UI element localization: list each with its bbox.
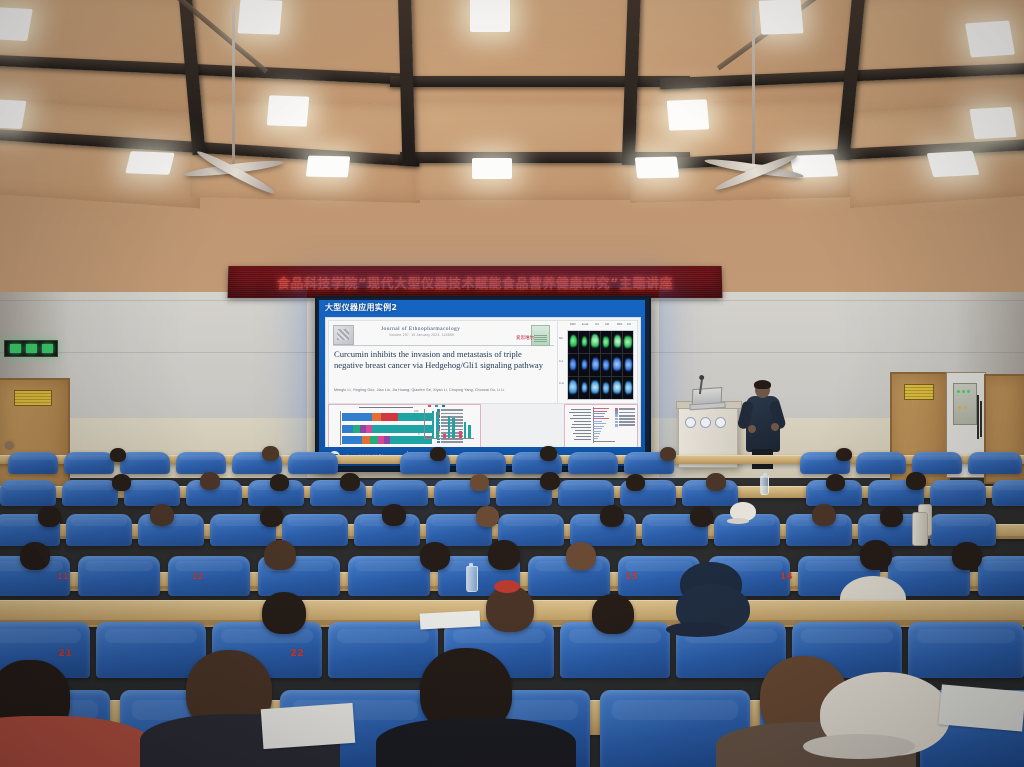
ceiling [0, 0, 1024, 300]
paper-title: Curcumin inhibits the invasion and metas… [334, 349, 552, 372]
electrical-panel [953, 383, 977, 425]
grouped-bar-chart: 100 50 0 [412, 405, 478, 445]
ceiling-light [267, 95, 310, 126]
seat-number: 14 [780, 572, 793, 582]
notebook [420, 610, 481, 629]
door-grille [904, 384, 934, 400]
white-cap [730, 502, 756, 521]
water-bottle [466, 566, 478, 592]
ceiling-light [759, 0, 804, 35]
seat-number: 21 [58, 648, 72, 659]
hair-accessory [494, 580, 520, 593]
paper-citation-card: Journal of Ethnopharmacology Volume 297,… [328, 320, 559, 404]
ceiling-fan [752, 8, 755, 166]
laptop [691, 387, 726, 409]
white-cap [820, 672, 950, 756]
ceiling-light [472, 158, 512, 179]
ceiling-fan [232, 6, 235, 166]
lectern-emblem [685, 417, 726, 428]
ceiling-light [125, 151, 174, 175]
door-grille [14, 390, 52, 406]
journal-logo-icon [333, 325, 354, 345]
paper-sheet [938, 684, 1024, 731]
water-bottle [760, 476, 769, 495]
seat-number: 12 [192, 572, 203, 581]
presentation-slide: 大型仪器应用实例2 Journal of Ethnopharmacology V… [319, 300, 645, 466]
journal-volume: Volume 297, 10 January 2023, 115550 [389, 333, 454, 337]
led-banner: 食品科技学院“现代大型仪器技术赋能食品营养健康研究”主题讲座 [228, 266, 723, 298]
seat-number: 13 [625, 572, 638, 582]
thermos [912, 512, 928, 546]
navy-cap [676, 584, 750, 634]
seat-number: 22 [290, 648, 304, 659]
microscopy-grid [567, 330, 634, 400]
lecture-hall-photo: 食品科技学院“现代大型仪器技术赋能食品营养健康研究”主题讲座 大型仪器应用实例2… [0, 0, 1024, 767]
journal-name: Journal of Ethnopharmacology [381, 326, 460, 332]
slide-section-title: 大型仪器应用实例2 [325, 302, 397, 313]
publisher-tag: 爱思唯尔 [516, 335, 534, 341]
ceiling-light [306, 156, 351, 178]
open-book [261, 703, 356, 749]
ceiling-light [927, 151, 980, 177]
exit-sign-icon [4, 340, 58, 357]
ceiling-light [635, 157, 680, 179]
enrichment-chart [564, 404, 638, 448]
microscopy-figure: DAPI E-cad Vim Gli1 MDA 231 NC C-L C-H [557, 320, 638, 404]
ceiling-light [0, 7, 33, 41]
seat-number: 11 [57, 572, 68, 581]
enrichment-legend [615, 408, 635, 427]
ceiling-light [470, 0, 510, 32]
banner-text: 食品科技学院“现代大型仪器技术赋能食品营养健康研究”主题讲座 [229, 267, 722, 297]
paper-authors: Menglu Li, Yingling Guo, Jiao Lin, Jia H… [334, 388, 552, 393]
ceiling-light [238, 0, 283, 35]
slide-content-area: Journal of Ethnopharmacology Volume 297,… [325, 317, 641, 449]
ceiling-light [965, 20, 1015, 57]
ceiling-light [667, 99, 710, 130]
ceiling-light [969, 107, 1016, 139]
projection-screen: 大型仪器应用实例2 Journal of Ethnopharmacology V… [315, 296, 651, 472]
